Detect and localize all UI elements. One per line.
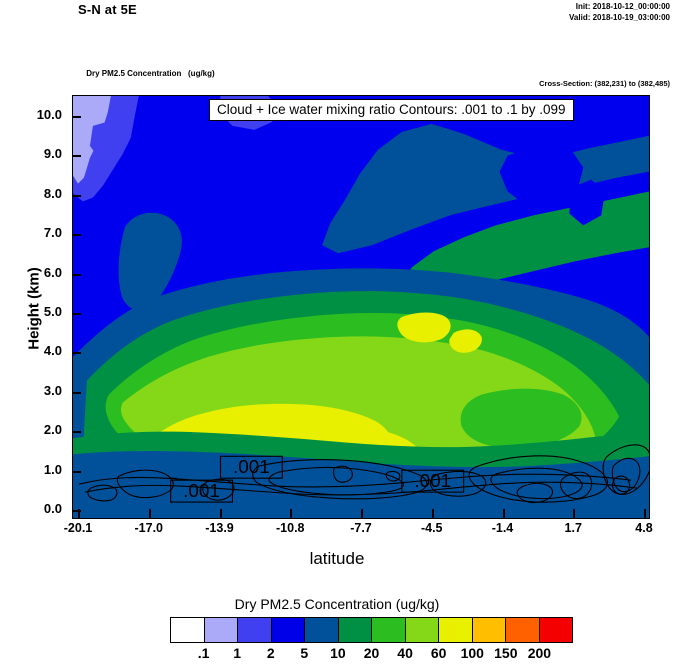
y-tick-mark [72,313,81,315]
page-title: S-N at 5E [78,2,137,17]
contour-label-text-3: .001 [414,471,451,492]
x-tick-mark [644,509,646,518]
colorbar-swatch [171,618,205,642]
contour-plot-area: .001 .001 .001 [72,95,650,519]
field-line-primary: Dry PM2.5 Concentration (ug/kg) [84,69,226,79]
y-tick-mark [72,352,81,354]
y-tick-mark [72,195,81,197]
colorbar-swatch [305,618,339,642]
x-tick-label: -17.0 [119,521,179,535]
x-tick-mark [220,509,222,518]
y-tick-label: 8.0 [6,186,62,201]
x-tick-label: -1.4 [473,521,533,535]
x-tick-label: -20.1 [48,521,108,535]
colorbar-title: Dry PM2.5 Concentration (ug/kg) [0,596,674,612]
y-tick-mark [72,234,81,236]
init-time: Init: 2018-10-12_00:00:00 [569,2,670,13]
y-axis-label: Height (km) [26,239,43,379]
colorbar-tick-label: 200 [517,645,561,661]
y-tick-mark [72,431,81,433]
colorbar-swatch [439,618,473,642]
x-axis-label: latitude [0,549,674,569]
x-tick-label: -13.9 [190,521,250,535]
colorbar-strip [170,617,573,643]
colorbar-swatch [205,618,239,642]
contour-label-text-1: .001 [233,457,270,478]
y-tick-label: 3.0 [6,383,62,398]
x-tick-mark [149,509,151,518]
x-tick-mark [432,509,434,518]
colorbar-swatch [272,618,306,642]
colorbar-swatch [339,618,373,642]
y-tick-label: 0.0 [6,501,62,516]
x-tick-label: 1.7 [543,521,603,535]
y-tick-mark [72,392,81,394]
colorbar-swatch [473,618,507,642]
x-tick-label: 4.8 [614,521,674,535]
y-tick-mark [72,116,81,118]
model-time-block: Init: 2018-10-12_00:00:00 Valid: 2018-10… [569,2,670,23]
x-tick-label: -4.5 [402,521,462,535]
x-tick-mark [573,509,575,518]
contour-label-text-2: .001 [183,481,220,502]
y-tick-label: 2.0 [6,422,62,437]
valid-time: Valid: 2018-10-19_03:00:00 [569,13,670,24]
y-tick-mark [72,274,81,276]
x-tick-mark [503,509,505,518]
colorbar-swatch [540,618,573,642]
contour-interval-banner: Cloud + Ice water mixing ratio Contours:… [209,99,574,121]
colorbar-swatch [506,618,540,642]
colorbar-swatch [406,618,440,642]
contour-field-svg: .001 .001 .001 [73,96,649,518]
x-tick-mark [290,509,292,518]
colorbar-swatch [372,618,406,642]
y-tick-label: 10.0 [6,107,62,122]
cross-section-coordinates: Cross-Section: (382,231) to (382,485) [539,79,670,88]
y-tick-mark [72,471,81,473]
y-tick-label: 1.0 [6,462,62,477]
y-tick-label: 9.0 [6,146,62,161]
colorbar-tick-labels: .112510204060100150200 [170,645,573,665]
x-tick-label: -10.8 [260,521,320,535]
y-tick-mark [72,155,81,157]
x-tick-label: -7.7 [331,521,391,535]
x-tick-mark [78,509,80,518]
colorbar-swatch [238,618,272,642]
x-tick-mark [361,509,363,518]
